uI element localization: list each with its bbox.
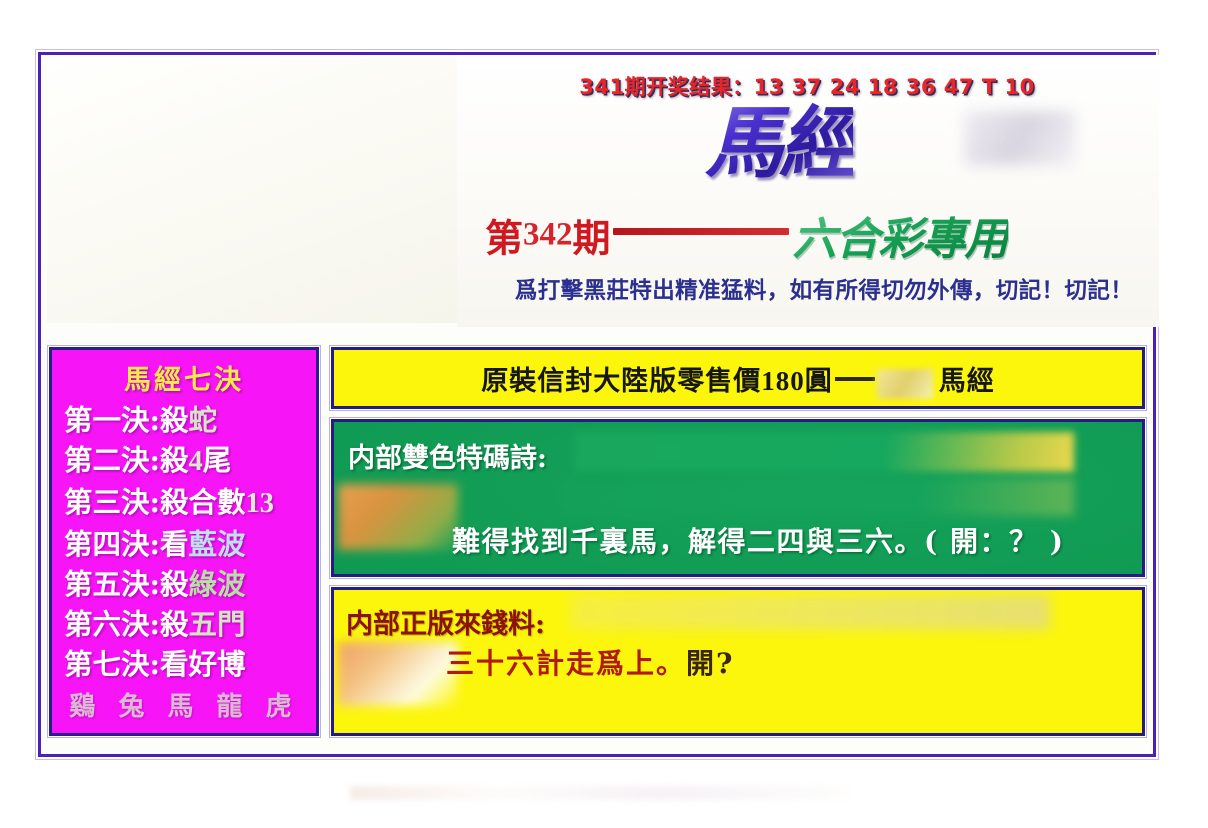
seven-decisions-list: 第一決:殺蛇第二決:殺4尾第三決:殺合數13第四決:看藍波第五決:殺綠波第六決:…	[58, 400, 310, 684]
lottery-tag: 六合彩專用	[793, 214, 1008, 265]
censor-smear-yellow-b	[338, 642, 458, 706]
masthead-logo: 馬經	[705, 97, 1005, 197]
issue-row: 第342期六合彩專用	[485, 203, 1159, 263]
seven-decision-item: 第二決:殺4尾	[58, 440, 310, 482]
zodiac-row: 鷄 兔 馬 龍 虎	[58, 688, 310, 726]
price-value: 180	[761, 366, 805, 396]
seven-decision-item: 第七決:看好博	[58, 644, 310, 684]
issue-suffix: 期	[573, 216, 611, 261]
seven-decision-label: 第六決:殺	[64, 607, 189, 641]
seven-decision-highlight: 13	[246, 488, 275, 519]
lottery-poster: 馬經 第342期六合彩專用 爲打擊黑莊特出精准猛料，如有所得切勿外傳，切記！切記…	[38, 52, 1156, 757]
seven-decisions-panel: 馬經七決 第一決:殺蛇第二決:殺4尾第三決:殺合數13第四決:看藍波第五決:殺綠…	[49, 347, 319, 736]
seven-decision-suffix: 尾	[203, 443, 232, 477]
seven-decision-label: 第四決:看	[64, 527, 189, 561]
issue-prefix: 第	[485, 216, 523, 261]
seven-decision-label: 第二決:殺	[64, 443, 189, 477]
double-color-poem-text: 難得找到千裏馬，解得二四與三六。( 開：？ )	[452, 520, 1092, 560]
price-text-after: 馬經	[939, 366, 995, 397]
seven-decision-label: 第七決:看好博	[64, 647, 246, 681]
seven-decision-label: 第一決:殺	[64, 403, 189, 437]
header-blank-plate	[47, 59, 457, 323]
seven-decision-item: 第六決:殺五門	[58, 604, 310, 644]
censor-smear-price	[877, 369, 933, 399]
logo-text: 馬經	[705, 98, 853, 189]
censor-smear-green-b	[562, 478, 1074, 516]
right-column: 原裝信封大陸版零售價180圓馬經 内部雙色特碼詩: 難得找到千裏馬，解得二四與三…	[331, 347, 1145, 736]
poster-body: 馬經七決 第一決:殺蛇第二決:殺4尾第三決:殺合數13第四決:看藍波第五決:殺綠…	[41, 327, 1159, 760]
poster-tagline: 爲打擊黑莊特出精准猛料，如有所得切勿外傳，切記！切記！	[493, 273, 1155, 305]
money-tip-text: 三十六計走爲上。開?	[446, 642, 1086, 682]
price-banner-text: 原裝信封大陸版零售價180圓馬經	[481, 359, 995, 398]
censor-smear-logo	[965, 111, 1075, 165]
seven-decision-item: 第三決:殺合數13	[58, 482, 310, 524]
seven-decision-highlight: 蛇	[189, 403, 218, 437]
seven-decisions-title: 馬經七決	[58, 358, 310, 397]
money-tip-proverb: 三十六計走爲上。	[446, 647, 686, 680]
double-color-poem-label: 内部雙色特碼詩:	[348, 436, 547, 475]
seven-decision-label: 第三決:殺合數	[64, 485, 246, 519]
censor-smear-green-c	[338, 484, 458, 550]
draw-result-line: 341期开奖结果：13 37 24 18 36 47 T 10	[457, 71, 1157, 101]
price-banner: 原裝信封大陸版零售價180圓馬經	[331, 347, 1145, 409]
seven-decision-highlight: 綠波	[189, 567, 246, 601]
double-color-poem-panel: 内部雙色特碼詩: 難得找到千裏馬，解得二四與三六。( 開：？ )	[331, 419, 1145, 577]
bottom-scan-artifact	[350, 786, 850, 800]
issue-rule-divider	[613, 228, 789, 235]
seven-decision-highlight: 4	[189, 446, 203, 477]
price-rule-divider	[835, 377, 875, 381]
issue-number: 342	[523, 217, 573, 253]
seven-decision-item: 第一決:殺蛇	[58, 400, 310, 440]
money-tip-panel: 内部正版來錢料: 三十六計走爲上。開?	[331, 587, 1145, 736]
seven-decision-item: 第五決:殺綠波	[58, 564, 310, 604]
seven-decision-label: 第五決:殺	[64, 567, 189, 601]
censor-smear-yellow-a	[570, 594, 1050, 630]
seven-decision-highlight: 五門	[189, 607, 246, 641]
price-text-before: 原裝信封大陸版零售價	[481, 366, 761, 397]
money-tip-label: 内部正版來錢料:	[346, 602, 545, 641]
poster-header: 馬經 第342期六合彩專用 爲打擊黑莊特出精准猛料，如有所得切勿外傳，切記！切記…	[41, 55, 1159, 327]
censor-smear-green-a	[574, 432, 1074, 472]
seven-decision-highlight: 藍波	[189, 527, 246, 561]
price-unit: 圓	[805, 366, 833, 397]
seven-decision-item: 第四決:看藍波	[58, 524, 310, 564]
money-tip-open-marker: 開?	[686, 647, 734, 680]
